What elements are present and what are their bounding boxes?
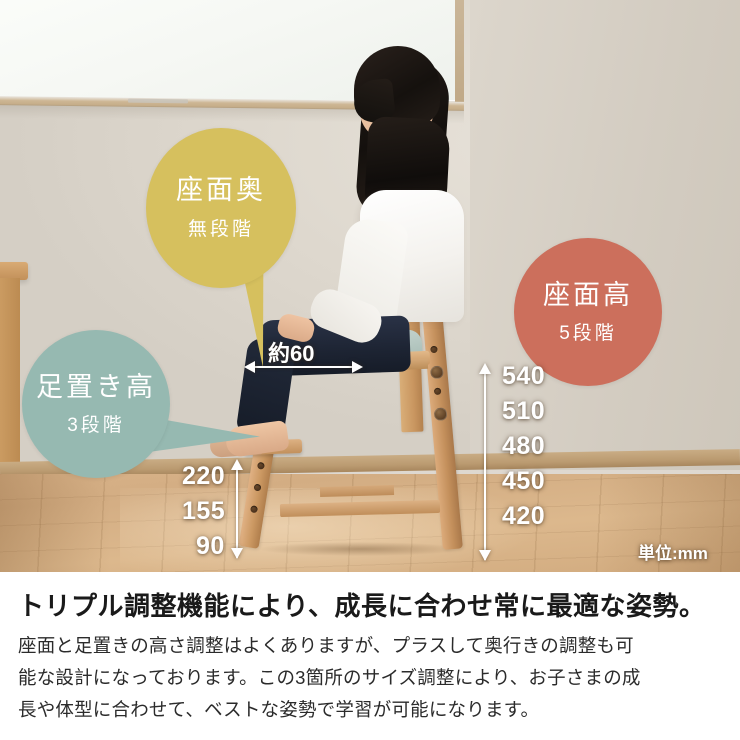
caption-body-line-2: 能な設計になっております。この3箇所のサイズ調整により、お子さまの成 xyxy=(18,662,724,694)
footrest-arrow-line xyxy=(236,468,238,558)
seat-height-arrow-up xyxy=(479,363,491,374)
callout-seat-depth-sub: 無段階 xyxy=(188,220,254,239)
caption-block: トリプル調整機能により、成長に合わせ常に最適な姿勢。 座面と足置きの高さ調整はよ… xyxy=(0,572,740,740)
product-photo: 座面奥 無段階 座面高 5段階 足置き高 3段階 約60 xyxy=(0,0,740,572)
callout-seat-height-title: 座面高 xyxy=(543,282,633,309)
seat-height-value-540: 540 xyxy=(502,362,545,391)
seat-height-value-450: 450 xyxy=(502,467,545,496)
chair-floor-shadow xyxy=(260,542,460,556)
seat-depth-value: 約60 xyxy=(268,336,314,368)
whiteboard-tray-clip xyxy=(128,99,188,104)
chair-stretcher xyxy=(280,500,440,517)
caption-body-line-1: 座面と足置きの高さ調整はよくありますが、プラスして奥行きの調整も可 xyxy=(18,630,724,662)
footrest-arrow-down xyxy=(231,548,243,559)
seat-height-arrow-down xyxy=(479,550,491,561)
unit-note: 単位:mm xyxy=(638,539,708,564)
seat-height-value-480: 480 xyxy=(502,432,545,461)
footrest-arrow-up xyxy=(231,459,243,470)
infographic-page: 座面奥 無段階 座面高 5段階 足置き高 3段階 約60 xyxy=(0,0,740,740)
footrest-value-90: 90 xyxy=(196,532,225,561)
footrest-value-220: 220 xyxy=(182,462,225,491)
callout-footrest-height: 足置き高 3段階 xyxy=(22,330,282,510)
callout-footrest-height-bubble: 足置き高 3段階 xyxy=(22,330,170,478)
seat-height-value-510: 510 xyxy=(502,397,545,426)
footrest-value-155: 155 xyxy=(182,497,225,526)
callout-seat-height-sub: 5段階 xyxy=(559,324,617,343)
callout-footrest-height-title: 足置き高 xyxy=(36,374,156,401)
callout-seat-depth-bubble: 座面奥 無段階 xyxy=(146,128,296,288)
callout-footrest-height-sub: 3段階 xyxy=(67,416,125,435)
desk-leg xyxy=(0,278,20,468)
caption-headline: トリプル調整機能により、成長に合わせ常に最適な姿勢。 xyxy=(18,586,724,623)
callout-seat-height: 座面高 5段階 xyxy=(514,238,734,418)
callout-seat-depth-title: 座面奥 xyxy=(176,177,266,204)
chair-stretcher-upper xyxy=(320,485,394,497)
seat-height-value-420: 420 xyxy=(502,502,545,531)
caption-body-line-3: 長や体型に合わせて、ベストな姿勢で学習が可能になります。 xyxy=(18,694,724,726)
caption-body: 座面と足置きの高さ調整はよくありますが、プラスして奥行きの調整も可 能な設計にな… xyxy=(18,630,724,725)
seat-height-arrow-line xyxy=(484,372,486,560)
seat-depth-arrow-line xyxy=(252,366,358,368)
seat-depth-arrow-right xyxy=(352,361,363,373)
seat-depth-arrow-left xyxy=(244,361,255,373)
